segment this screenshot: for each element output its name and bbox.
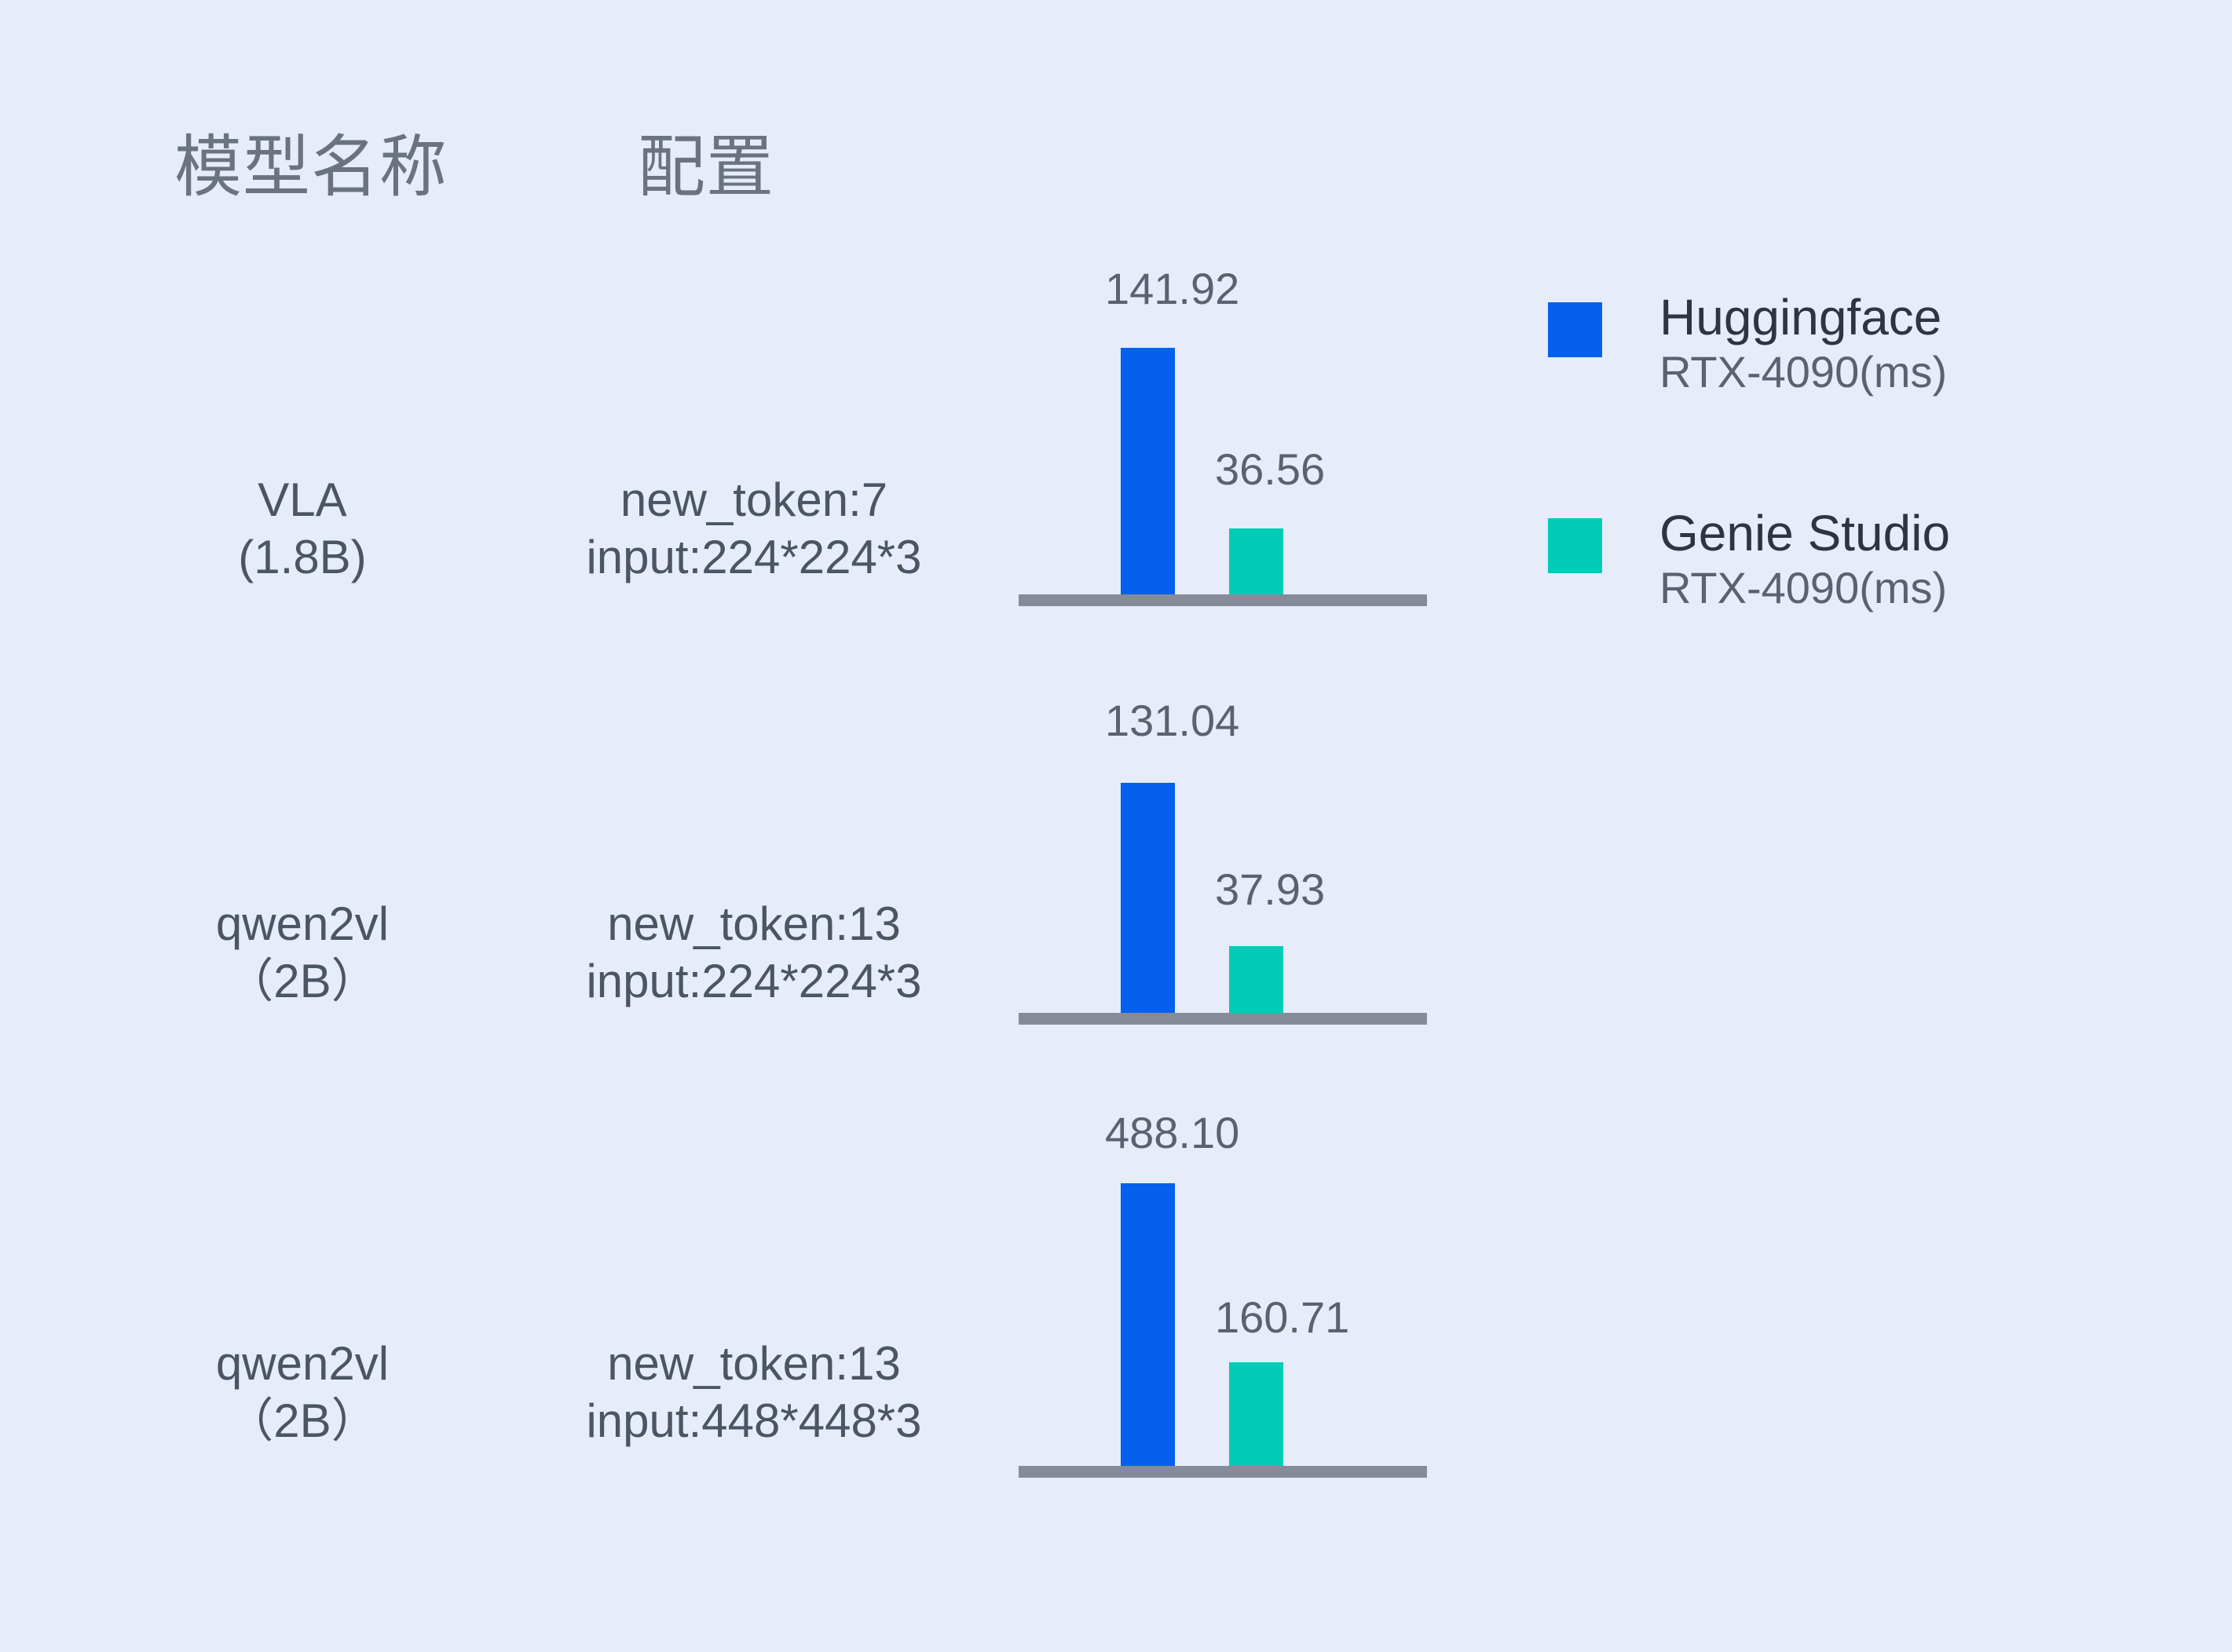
model-name-line2: （2B） (134, 1392, 471, 1449)
column-header-model-name: 模型名称 (174, 133, 448, 201)
blue-square-swatch-icon (1548, 302, 1602, 357)
bar-value-label-huggingface: 488.10 (1105, 1111, 1239, 1155)
legend-series-name: Huggingface (1659, 290, 2162, 346)
teal-square-swatch-icon (1548, 518, 1602, 573)
config-line2: input:224*224*3 (487, 528, 1021, 586)
config-line1: new_token:13 (607, 897, 901, 950)
legend-label-group: Genie Studio RTX-4090(ms) (1659, 506, 2162, 614)
bar-genie-studio[interactable] (1229, 1362, 1283, 1466)
legend-series-sublabel: RTX-4090(ms) (1659, 346, 2162, 398)
chart-canvas: 模型名称 配置 VLA (1.8B) new_token:7 input:224… (0, 0, 2232, 1652)
legend-series-name: Genie Studio (1659, 506, 2162, 562)
legend-item-huggingface[interactable]: Huggingface RTX-4090(ms) (1548, 302, 2176, 459)
row-model-name: qwen2vl （2B） (134, 1335, 471, 1449)
legend-label-group: Huggingface RTX-4090(ms) (1659, 290, 2162, 398)
bar-huggingface[interactable] (1121, 1183, 1175, 1478)
baseline-axis (1019, 1466, 1427, 1478)
row-model-name: qwen2vl （2B） (134, 895, 471, 1010)
row-config: new_token:13 input:224*224*3 (487, 895, 1021, 1010)
row-config: new_token:7 input:224*224*3 (487, 471, 1021, 586)
row-model-name: VLA (1.8B) (134, 471, 471, 586)
model-name-line1: VLA (258, 473, 346, 526)
column-header-config: 配置 (638, 133, 774, 201)
legend-series-sublabel: RTX-4090(ms) (1659, 562, 2162, 614)
model-name-line2: (1.8B) (134, 528, 471, 586)
bar-value-label-genie: 160.71 (1215, 1296, 1349, 1340)
config-line1: new_token:7 (620, 473, 887, 526)
bar-group: 488.10 160.71 (1019, 0, 1427, 1492)
config-line2: input:224*224*3 (487, 952, 1021, 1010)
model-name-line1: qwen2vl (216, 897, 389, 950)
row-config: new_token:13 input:448*448*3 (487, 1335, 1021, 1449)
config-line1: new_token:13 (607, 1337, 901, 1390)
model-name-line1: qwen2vl (216, 1337, 389, 1390)
legend-item-genie-studio[interactable]: Genie Studio RTX-4090(ms) (1548, 518, 2176, 675)
model-name-line2: （2B） (134, 952, 471, 1010)
config-line2: input:448*448*3 (487, 1392, 1021, 1449)
